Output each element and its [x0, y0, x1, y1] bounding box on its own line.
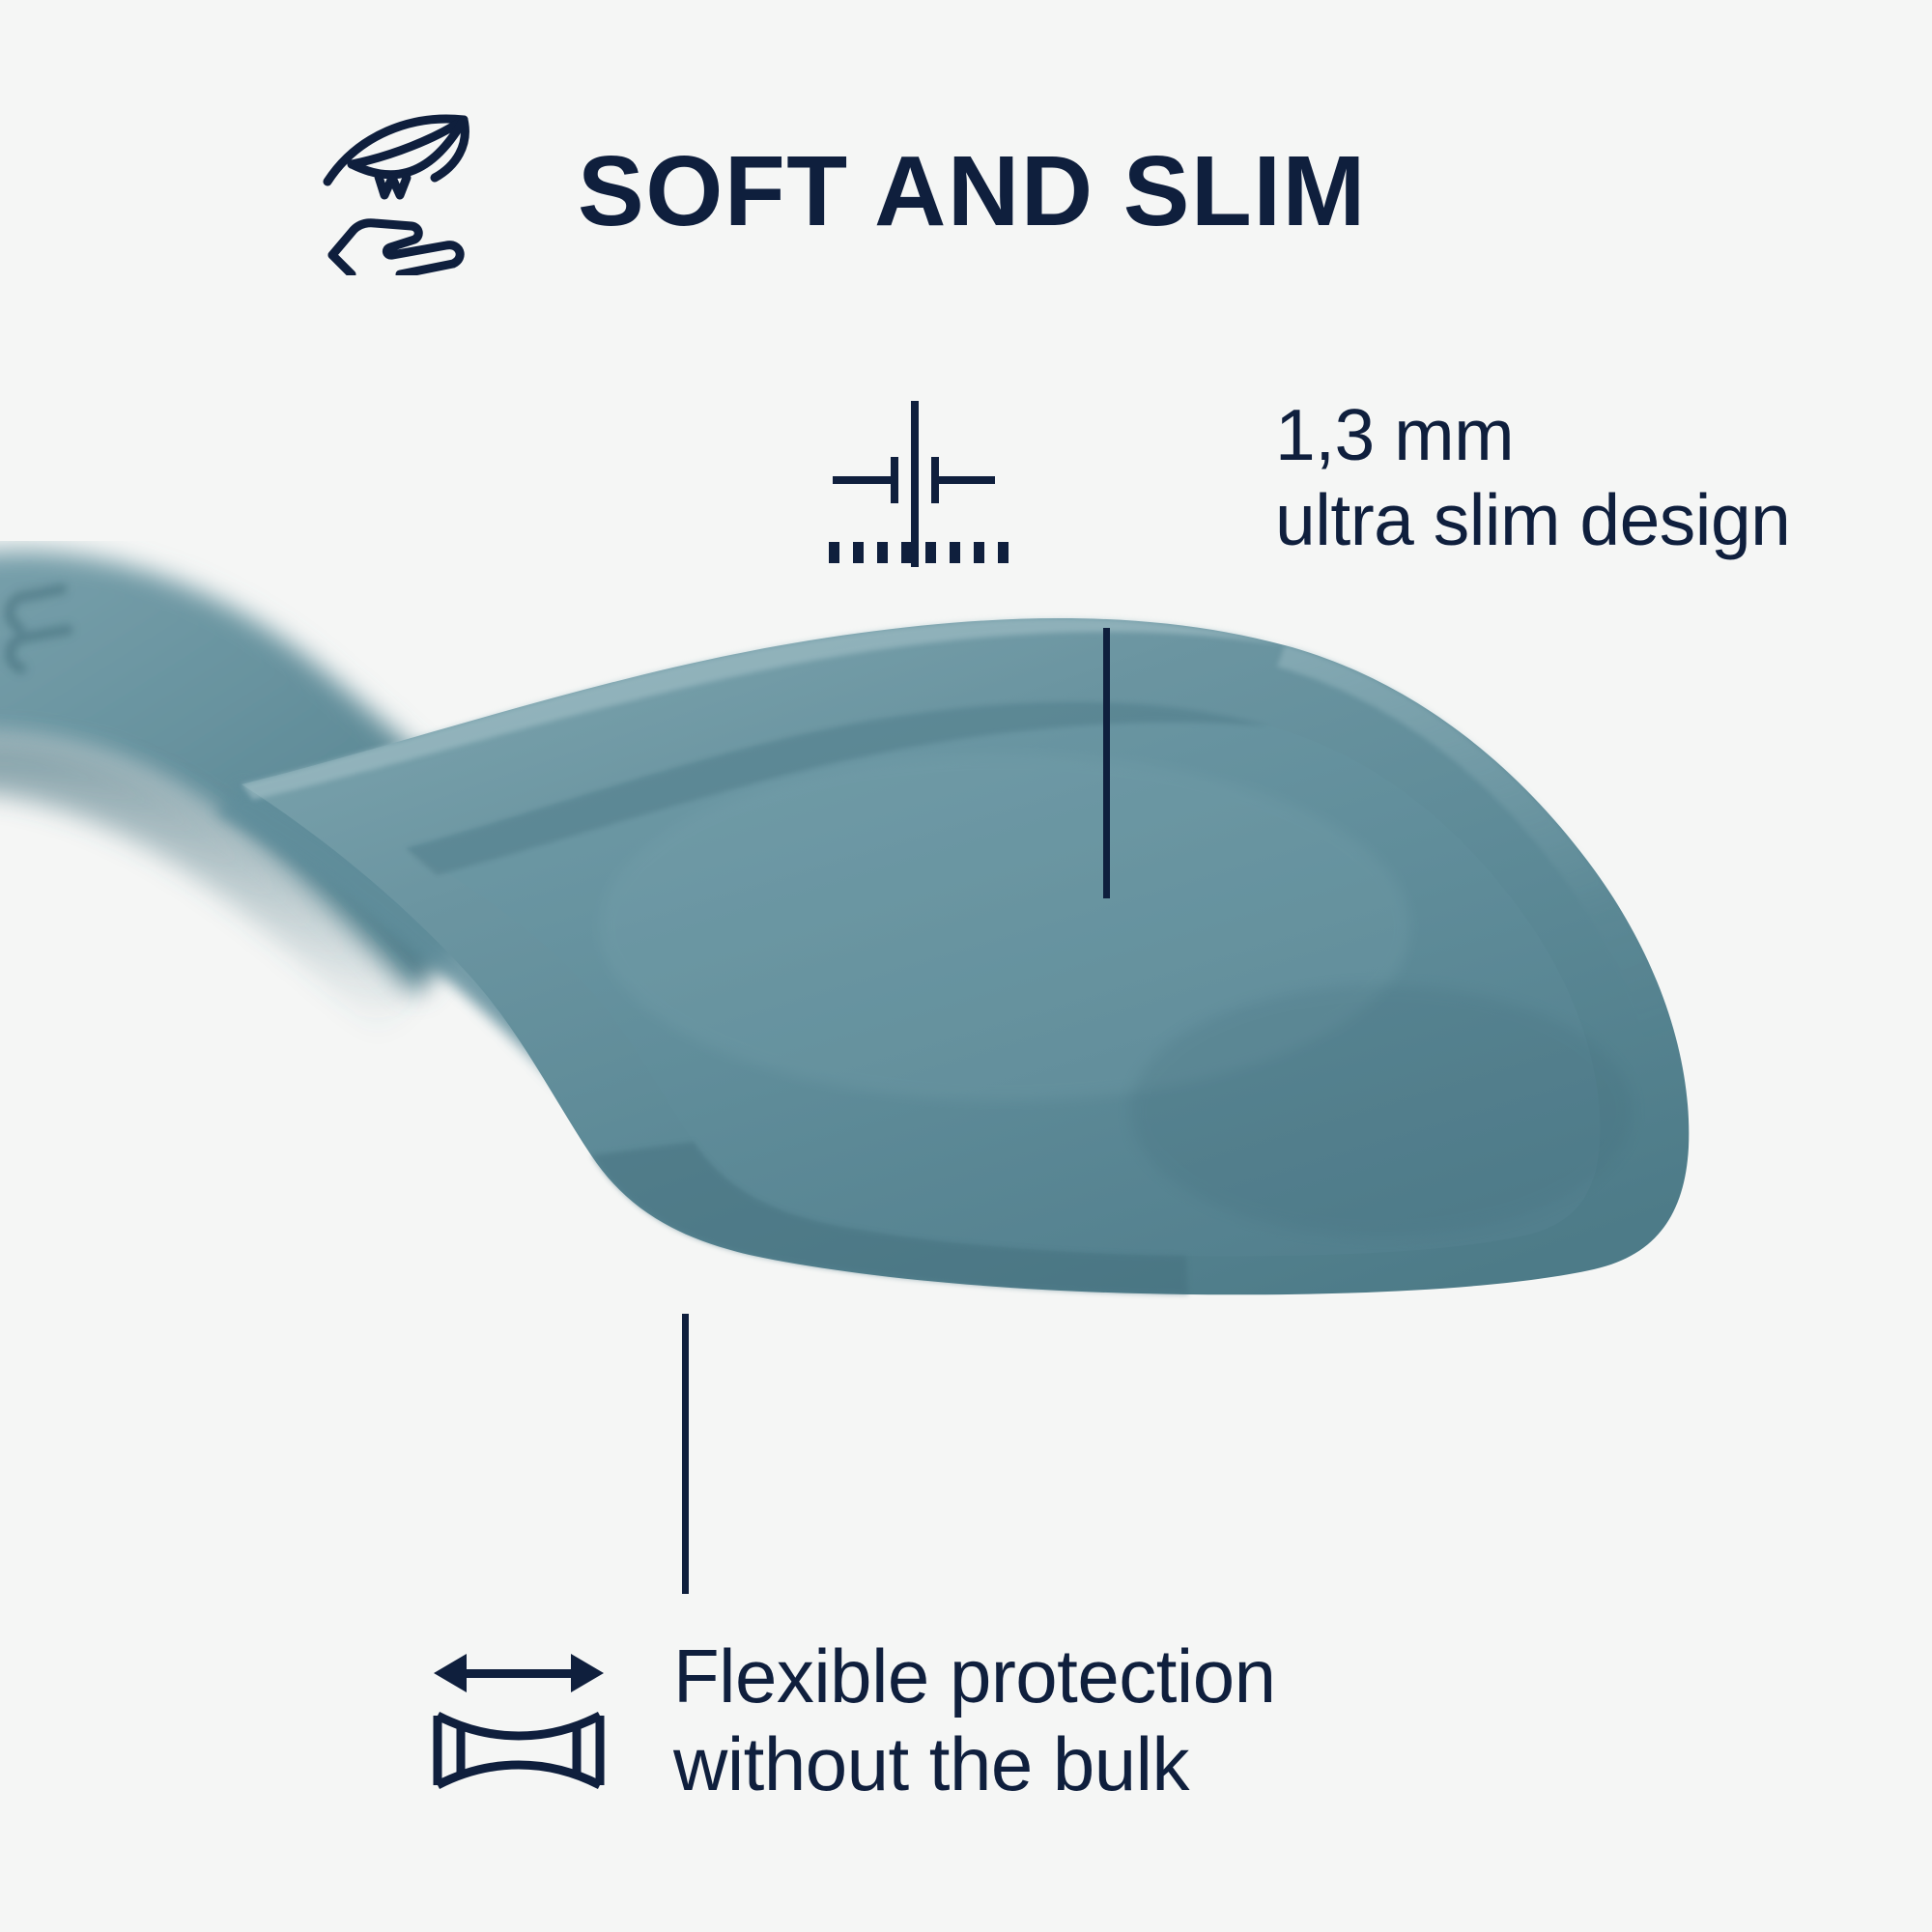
flexibility-text-block: Flexible protection without the bulk	[673, 1633, 1276, 1809]
product-image	[0, 541, 1932, 1604]
page-title: SOFT AND SLIM	[578, 141, 1367, 241]
thickness-gauge-icon	[811, 401, 1034, 613]
callout-flexibility: Flexible protection without the bulk	[422, 1633, 1276, 1809]
callout-thickness: 1,3 mm ultra slim design	[811, 401, 1790, 613]
case-main-body	[241, 618, 1689, 1294]
thickness-description: ultra slim design	[1275, 478, 1790, 563]
thickness-measurement: 1,3 mm	[1275, 393, 1790, 478]
stretch-flex-icon	[422, 1633, 615, 1793]
flexibility-line-2: without the bulk	[673, 1720, 1276, 1808]
leader-line-thickness	[1103, 628, 1110, 898]
flexibility-line-1: Flexible protection	[673, 1633, 1276, 1720]
feather-in-hand-icon	[319, 106, 502, 275]
thickness-text-block: 1,3 mm ultra slim design	[1275, 393, 1790, 563]
leader-line-flexibility	[682, 1314, 689, 1594]
header: SOFT AND SLIM	[319, 106, 1367, 275]
product-feature-graphic: SOFT AND SLIM	[0, 0, 1932, 1932]
